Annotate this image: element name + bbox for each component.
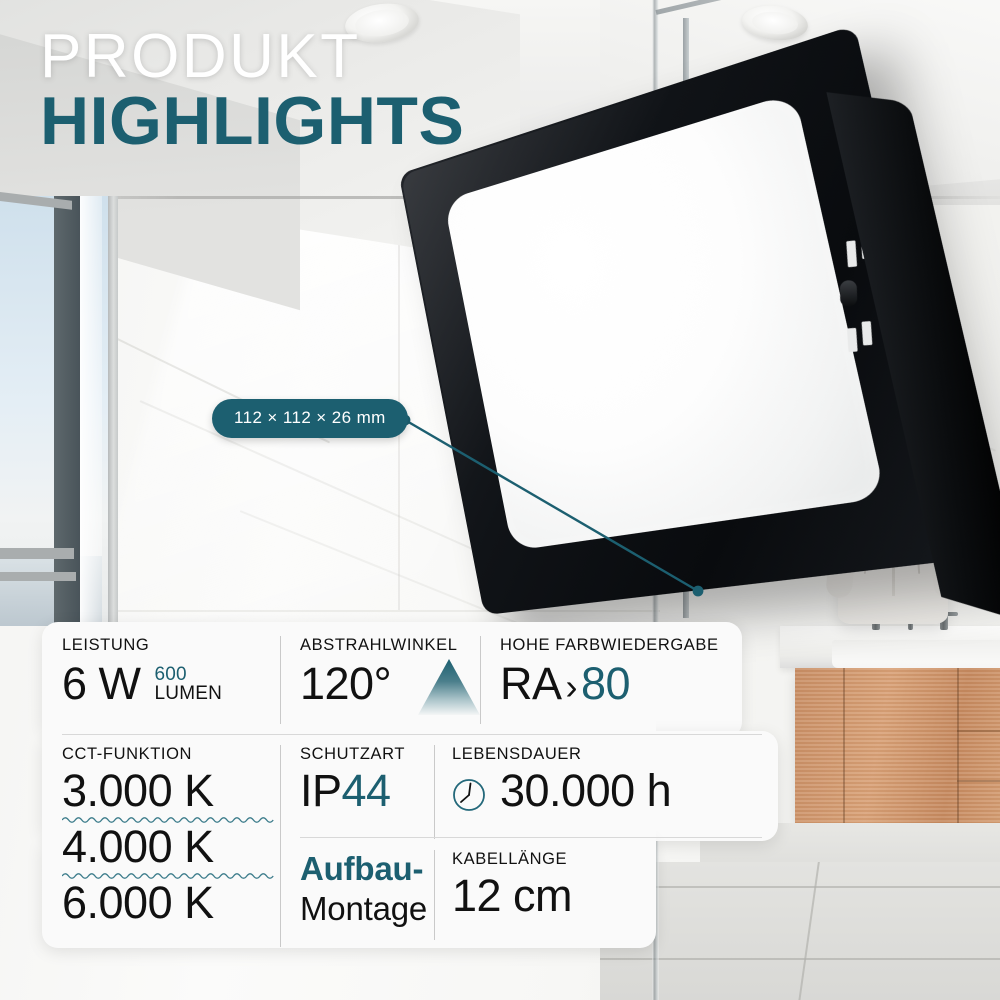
- spec-farbwiedergabe-operator: ›: [562, 666, 582, 707]
- spec-lebensdauer: LEBENSDAUER 30.000 h: [452, 745, 671, 815]
- spec-cct-value-2: 4.000 K: [62, 824, 274, 871]
- spec-grid: LEISTUNG 6 W600LUMEN ABSTRAHLWINKEL 120°…: [42, 622, 782, 952]
- spec-cct-value-3: 6.000 K: [62, 880, 274, 927]
- spec-cct-caption: CCT-FUNKTION: [62, 745, 274, 764]
- product-highlights-graphic: 112 × 112 × 26 mm PRODUKT HIGHLIGHTS LEI…: [0, 0, 1000, 1000]
- sink-basin: [832, 640, 1000, 668]
- spec-schutzart: SCHUTZART IP44: [300, 745, 405, 815]
- page-title: PRODUKT HIGHLIGHTS: [40, 28, 464, 153]
- spec-leistung-value-wrap: 6 W600LUMEN: [62, 661, 222, 708]
- spec-lebensdauer-value-wrap: 30.000 h: [452, 768, 671, 815]
- spec-farbwiedergabe-number: 80: [581, 658, 630, 709]
- spec-leistung: LEISTUNG 6 W600LUMEN: [62, 636, 222, 708]
- spec-leistung-lumen-number: 600: [155, 665, 223, 684]
- spec-lebensdauer-value: 30.000 h: [500, 765, 671, 816]
- spec-farbwiedergabe-prefix: RA: [500, 658, 562, 709]
- spec-farbwiedergabe-value-wrap: RA›80: [500, 661, 719, 708]
- divider-vertical: [434, 745, 435, 839]
- spec-abstrahlwinkel: ABSTRAHLWINKEL 120°: [300, 636, 458, 708]
- divider-horizontal: [300, 837, 762, 838]
- dimension-badge: 112 × 112 × 26 mm: [212, 399, 408, 438]
- spec-farbwiedergabe: HOHE FARBWIEDERGABE RA›80: [500, 636, 719, 708]
- divider-vertical: [280, 636, 281, 724]
- title-line-2: HIGHLIGHTS: [40, 90, 464, 153]
- spec-lebensdauer-caption: LEBENSDAUER: [452, 745, 671, 764]
- spec-abstrahlwinkel-caption: ABSTRAHLWINKEL: [300, 636, 458, 655]
- divider-vertical: [480, 636, 481, 724]
- spec-cct: CCT-FUNKTION 3.000 K 4.000 K 6.000 K: [62, 745, 274, 926]
- spec-leistung-value: 6 W: [62, 658, 141, 709]
- title-line-1: PRODUKT: [40, 28, 464, 86]
- light-cone-triangle-icon: [418, 659, 480, 715]
- divider-vertical: [280, 745, 281, 947]
- spec-montage-line-2: Montage: [300, 890, 427, 928]
- spec-abstrahlwinkel-value-wrap: 120°: [300, 661, 458, 708]
- spec-leistung-caption: LEISTUNG: [62, 636, 222, 655]
- spec-leistung-lumen: 600LUMEN: [155, 665, 223, 703]
- spec-kabellaenge-caption: KABELLÄNGE: [452, 850, 572, 869]
- spec-montage-line-1: Aufbau-: [300, 850, 427, 888]
- divider-vertical: [434, 850, 435, 940]
- spec-montage: Aufbau- Montage: [300, 850, 427, 928]
- cable-outlet: [840, 280, 858, 307]
- spec-schutzart-number: 44: [342, 765, 391, 816]
- spec-schutzart-value-wrap: IP44: [300, 768, 405, 815]
- wood-cabinet: [795, 668, 1000, 823]
- spec-farbwiedergabe-caption: HOHE FARBWIEDERGABE: [500, 636, 719, 655]
- clock-icon: [452, 778, 486, 812]
- spec-kabellaenge-value: 12 cm: [452, 873, 572, 920]
- spec-cct-value-1: 3.000 K: [62, 768, 274, 815]
- spec-schutzart-caption: SCHUTZART: [300, 745, 405, 764]
- divider-horizontal: [62, 734, 762, 735]
- spec-leistung-lumen-unit: LUMEN: [155, 684, 223, 703]
- spec-abstrahlwinkel-value: 120°: [300, 658, 391, 709]
- spec-kabellaenge: KABELLÄNGE 12 cm: [452, 850, 572, 920]
- window: [0, 196, 114, 626]
- spec-schutzart-prefix: IP: [300, 765, 342, 816]
